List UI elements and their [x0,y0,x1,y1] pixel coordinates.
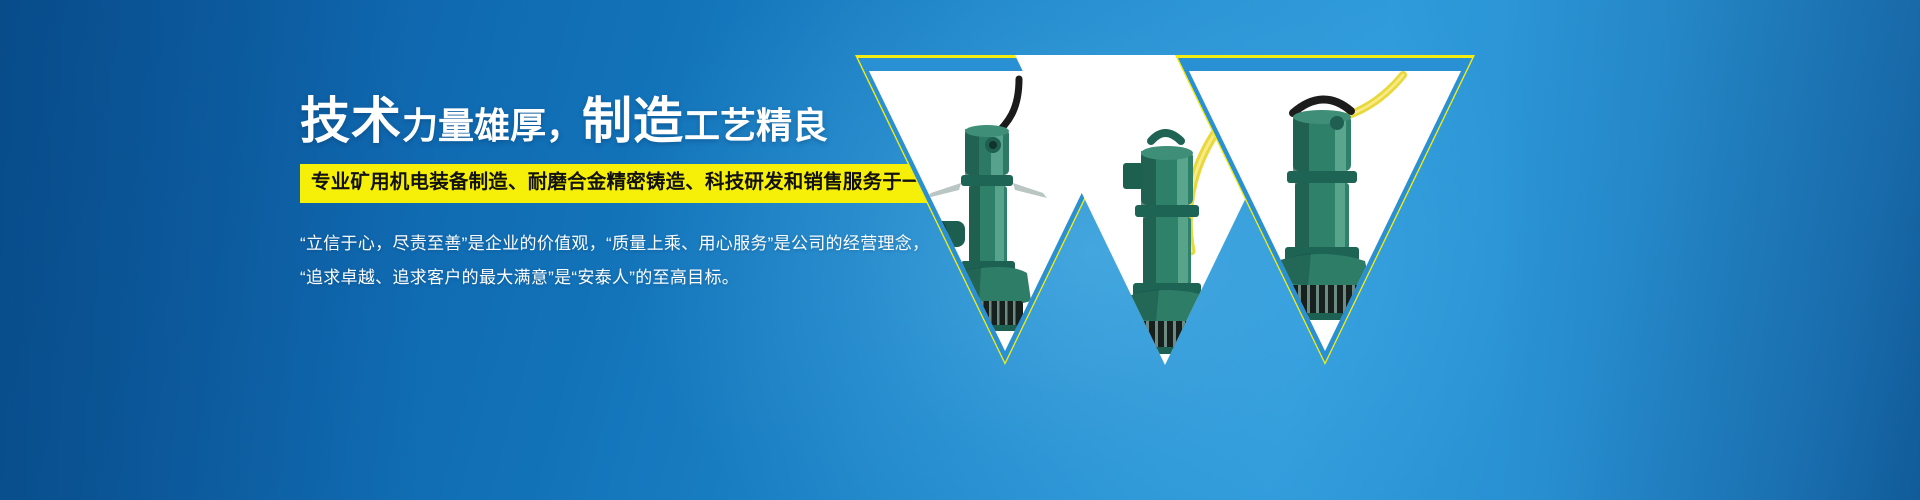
pump-illustration-right [1189,71,1461,351]
headline-segment-1: 技术 [300,93,402,149]
headline-segment-4: 工艺精良 [684,105,828,146]
headline: 技术力量雄厚，制造工艺精良 [300,96,920,146]
promo-banner: 技术力量雄厚，制造工艺精良 专业矿用机电装备制造、耐磨合金精密铸造、科技研发和销… [0,0,1920,500]
triangle-plate-right [1189,71,1461,351]
description-paragraph: “立信于心，尽责至善”是企业的价值观，“质量上乘、用心服务”是公司的经营理念， … [300,227,920,295]
headline-segment-2: 力量雄厚， [402,105,582,146]
product-triangle-group [855,55,1555,365]
triangle-panel-right [1175,55,1475,365]
headline-segment-3: 制造 [582,93,684,149]
description-line-1: “立信于心，尽责至善”是企业的价值观，“质量上乘、用心服务”是公司的经营理念， [300,227,920,261]
text-block: 技术力量雄厚，制造工艺精良 专业矿用机电装备制造、耐磨合金精密铸造、科技研发和销… [300,96,920,295]
description-line-2: “追求卓越、追求客户的最大满意”是“安泰人”的至高目标。 [300,261,920,295]
